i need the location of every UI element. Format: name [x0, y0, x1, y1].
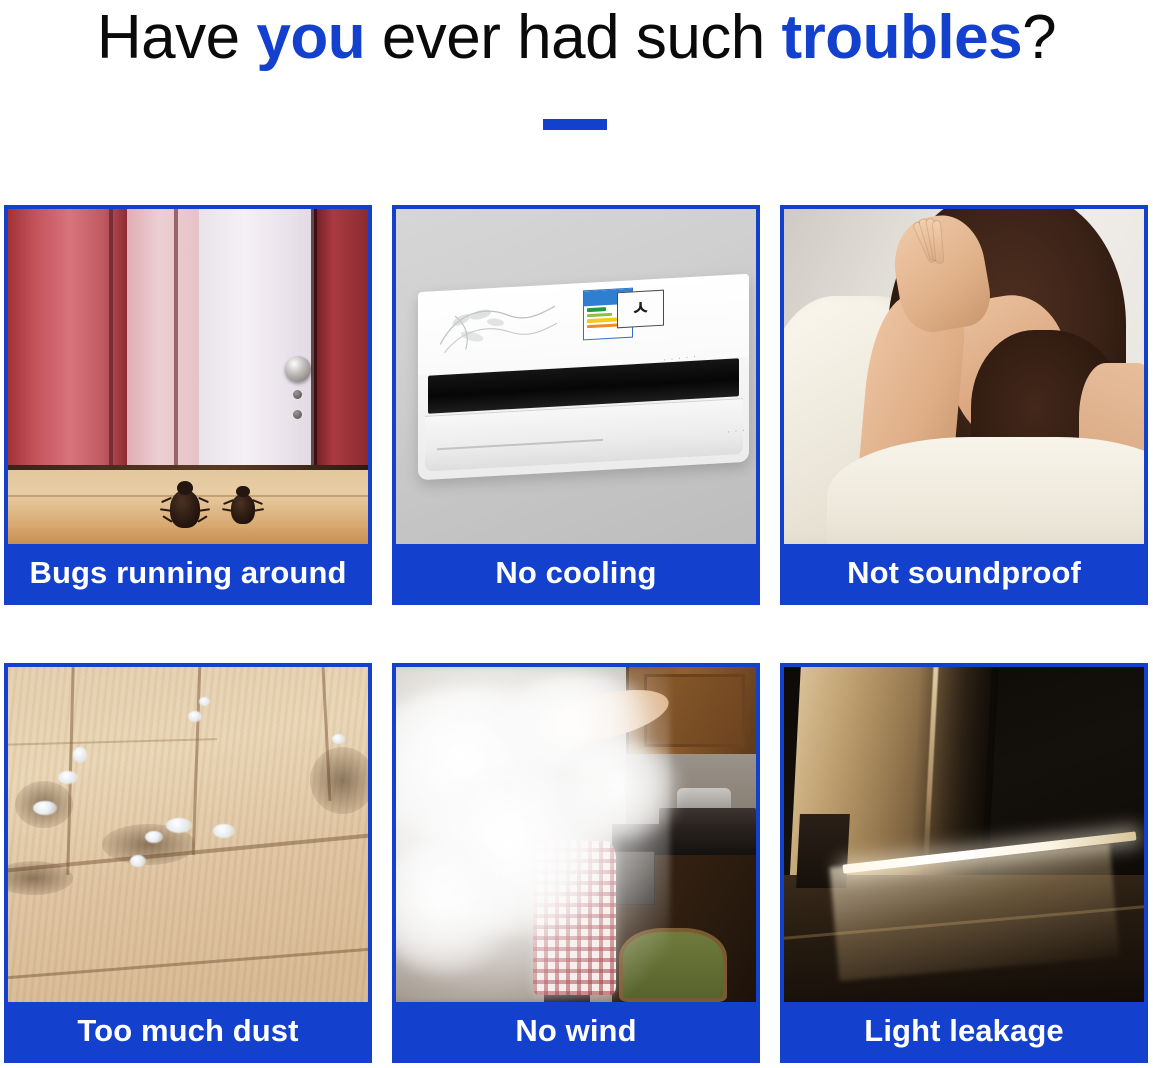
door-groove-2 [174, 209, 178, 470]
floral-print-decal [428, 295, 567, 367]
floor-seam-4 [8, 947, 368, 979]
door-panel-middle [127, 209, 199, 470]
photo-too-much-dust [8, 667, 368, 1002]
card-caption-label: No cooling [396, 544, 756, 601]
floor-seam-6 [8, 738, 217, 746]
card-caption-label: Light leakage [784, 1002, 1144, 1059]
certification-label: ㅅ [617, 290, 664, 329]
door-panel-right [314, 209, 368, 470]
photo-light-leakage [784, 667, 1144, 1002]
headline-question-mark: ? [1022, 3, 1056, 72]
door-groove-3 [311, 209, 317, 470]
photo-no-wind [396, 667, 756, 1002]
headline-emphasis-you: you [256, 3, 365, 72]
ac-side-code: · · · [726, 424, 745, 436]
accent-underline [543, 119, 607, 130]
trouble-card-no-cooling[interactable]: · · · · · · · · ㅅ No cooling [392, 205, 760, 605]
card-caption-label: Too much dust [8, 1002, 368, 1059]
card-caption-label: Bugs running around [8, 544, 368, 601]
floor-seam-2 [192, 667, 202, 855]
door-panel-white [199, 209, 314, 470]
card-caption-label: Not soundproof [784, 544, 1144, 601]
trouble-card-not-soundproof[interactable]: Not soundproof [780, 205, 1148, 605]
card-caption-label: No wind [396, 1002, 756, 1059]
trouble-card-grid: Bugs running around [4, 205, 1149, 1061]
door-groove-1 [109, 209, 113, 470]
trouble-card-bugs[interactable]: Bugs running around [4, 205, 372, 605]
trouble-card-no-wind[interactable]: No wind [392, 663, 760, 1063]
headline-part-2: ever had such [365, 3, 781, 72]
bug-icon-small [231, 494, 255, 524]
promo-banner: Have you ever had such troubles? [0, 0, 1153, 1068]
pillow-bottom [827, 437, 1144, 544]
trouble-card-too-much-dust[interactable]: Too much dust [4, 663, 372, 1063]
photo-no-cooling: · · · · · · · · ㅅ [396, 209, 756, 544]
page-title: Have you ever had such troubles? [0, 2, 1153, 74]
headline-part-1: Have [97, 3, 256, 72]
certification-mark-icon: ㅅ [632, 299, 650, 320]
trouble-card-light-leakage[interactable]: Light leakage [780, 663, 1148, 1063]
photo-not-soundproof [784, 209, 1144, 544]
bug-icon-large [170, 490, 200, 528]
photo-bugs-running-around [8, 209, 368, 544]
headline-emphasis-troubles: troubles [782, 3, 1023, 72]
